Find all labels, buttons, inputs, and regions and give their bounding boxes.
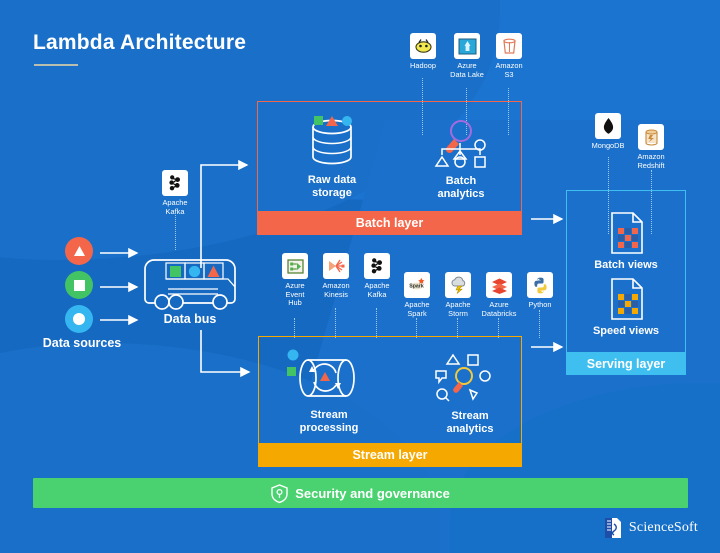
dotted-connector-spark xyxy=(416,318,417,338)
stream-processing-label: Streamprocessing xyxy=(281,409,377,435)
data-source-circle[interactable] xyxy=(65,305,93,333)
data-bus-label: Data bus xyxy=(140,312,240,326)
diagram-canvas: Lambda Architecture Data sources xyxy=(0,0,720,553)
batch-views-document-icon xyxy=(610,212,644,254)
speed-views-label: Speed views xyxy=(572,325,680,338)
hadoop-icon xyxy=(410,33,436,59)
dotted-connector-event-hub xyxy=(294,318,295,338)
tech-label: Amazon Redshift xyxy=(618,153,684,170)
stream-layer-box[interactable]: Streamprocessing Streamanalytics Stream … xyxy=(258,336,522,467)
raw-data-storage-label: Raw datastorage xyxy=(290,174,374,200)
amazon-redshift-icon xyxy=(638,124,664,150)
data-sources-label: Data sources xyxy=(22,336,142,350)
stream-processing-icon xyxy=(286,350,372,406)
tech-label: AmazonS3 xyxy=(476,62,542,79)
apache-kafka-icon xyxy=(162,170,188,196)
tech-apache-kafka-bus[interactable]: ApacheKafka xyxy=(142,170,208,216)
raw-data-storage-icon xyxy=(302,115,362,173)
amazon-s3-icon xyxy=(496,33,522,59)
security-governance-label: Security and governance xyxy=(295,486,450,501)
square-icon xyxy=(74,280,85,291)
data-source-square[interactable] xyxy=(65,271,93,299)
speed-views-document-icon xyxy=(610,278,644,320)
tech-amazon-redshift[interactable]: Amazon Redshift xyxy=(618,124,684,170)
data-bus-icon[interactable] xyxy=(140,255,240,313)
serving-layer-box[interactable]: Batch views Speed views Serving layer xyxy=(566,190,686,375)
dotted-connector-python xyxy=(539,310,540,338)
sciencesoft-logo-icon xyxy=(604,517,624,539)
batch-views-label: Batch views xyxy=(572,259,680,272)
data-source-triangle[interactable] xyxy=(65,237,93,265)
shield-icon xyxy=(271,484,288,503)
brand-name: ScienceSoft xyxy=(629,520,698,536)
svg-text:Spark: Spark xyxy=(409,283,424,289)
circle-icon xyxy=(73,313,85,325)
batch-layer-bar: Batch layer xyxy=(257,211,522,235)
dotted-connector-kafka-bus xyxy=(175,212,176,250)
triangle-icon xyxy=(73,245,86,257)
stream-analytics-label: Streamanalytics xyxy=(424,410,516,436)
stream-analytics-icon xyxy=(433,352,495,406)
python-icon xyxy=(527,272,553,298)
tech-amazon-s3[interactable]: AmazonS3 xyxy=(476,33,542,79)
stream-layer-bar: Stream layer xyxy=(258,443,522,467)
security-governance-bar[interactable]: Security and governance xyxy=(33,478,688,508)
tech-python[interactable]: Python xyxy=(507,272,573,310)
dotted-connector-storm xyxy=(457,318,458,338)
dotted-connector-kinesis xyxy=(335,308,336,338)
dotted-connector-kafka-stream xyxy=(376,308,377,338)
dotted-connector-databricks xyxy=(498,318,499,338)
brand-footer: ScienceSoft xyxy=(604,517,698,539)
batch-layer-box[interactable]: Raw datastorage Batchanalytics Batch lay… xyxy=(257,101,522,235)
tech-label: Python xyxy=(507,301,573,310)
batch-analytics-icon xyxy=(429,117,491,173)
serving-layer-bar: Serving layer xyxy=(566,352,686,375)
batch-analytics-label: Batchanalytics xyxy=(419,175,503,201)
